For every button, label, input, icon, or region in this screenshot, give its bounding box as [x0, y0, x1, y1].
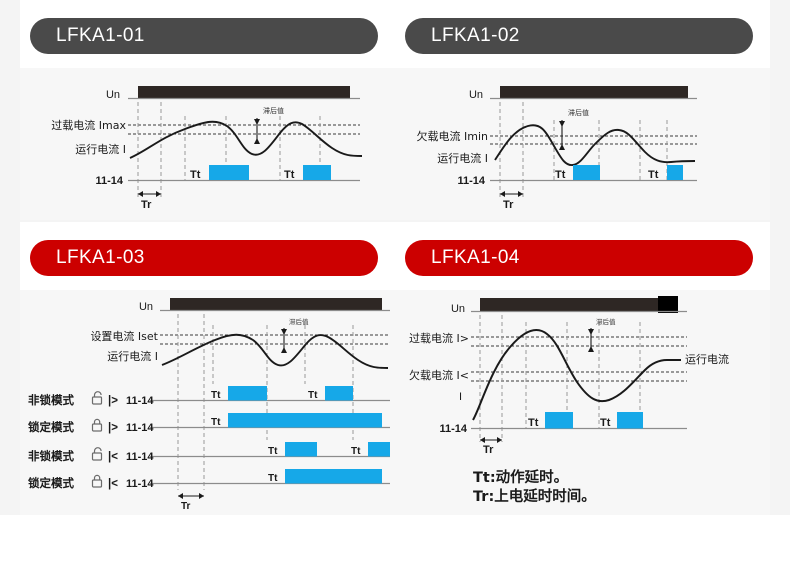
tt-label-row2-1: Tt [211, 417, 221, 428]
panel-title-pill[interactable]: LFKA1-04 [405, 240, 753, 276]
lock-icon [93, 419, 102, 431]
run-current-callout: 运行电流 [685, 352, 729, 366]
timing-diagram: 滞后值 运行电流 Tt Tt Tr Un 过载电流 I> [395, 290, 770, 515]
hysteresis-arrow [559, 120, 565, 150]
note-line-1: Tt:动作延时。 [473, 468, 568, 486]
lock-icon [93, 475, 102, 487]
supply-voltage-bar [138, 86, 350, 98]
tt-label-1: Tt [190, 169, 201, 181]
running-current-curve [473, 330, 681, 420]
tt-label-row3-1: Tt [268, 446, 278, 457]
contact-pulse-2 [303, 165, 331, 180]
unlock-icon [93, 392, 102, 404]
event-marker-group [178, 314, 353, 490]
contact-pulse-row3-2 [368, 442, 390, 457]
unlock-icon [93, 448, 102, 460]
event-marker-group [138, 102, 320, 199]
hysteresis-label: 滞后值 [568, 108, 589, 117]
row-compare-label-4: |< [108, 478, 118, 490]
tr-label: Tr [483, 444, 494, 456]
panel-title-pill[interactable]: LFKA1-01 [30, 18, 378, 54]
row-mode-label-1: 非锁模式 [28, 393, 74, 407]
contact-label: 11-14 [95, 175, 123, 187]
contact-pulse-row2-1 [228, 413, 382, 428]
tt-label-2: Tt [648, 169, 659, 181]
tt-label-row1-1: Tt [211, 390, 221, 401]
tr-measure [500, 191, 523, 197]
hysteresis-arrow [588, 328, 594, 352]
contact-pulse-2 [667, 165, 683, 180]
row-contact-label-3: 11-14 [126, 451, 154, 463]
tr-label: Tr [141, 199, 152, 211]
row-legend-1: 非锁模式 |> 11-14 [28, 392, 154, 407]
threshold-label: 过载电流 Imax [51, 118, 126, 132]
undercurrent-label: 欠载电流 I< [409, 368, 469, 382]
tr-measure [178, 493, 204, 499]
panel-title-label: LFKA1-03 [56, 247, 145, 269]
panel-title-label: LFKA1-02 [431, 25, 520, 47]
tt-label-row4-1: Tt [268, 473, 278, 484]
contact-label: 11-14 [457, 175, 485, 187]
hysteresis-label: 滞后值 [289, 317, 309, 326]
tt-label-1: Tt [555, 169, 566, 181]
contact-label: 11-14 [439, 423, 467, 435]
panel-lfka1-03: LFKA1-03 [20, 222, 395, 515]
row-compare-label-2: |> [108, 422, 118, 434]
supply-voltage-bar [480, 298, 678, 311]
contact-pulse-row1-2 [325, 386, 353, 401]
timing-diagram: 滞后值 Tt Tt Tt Tt Tt Tt [20, 290, 395, 515]
row-mode-label-4: 锁定模式 [28, 476, 74, 490]
tt-label-2: Tt [284, 169, 295, 181]
hysteresis-arrow [254, 118, 260, 144]
tt-label-1: Tt [528, 417, 539, 429]
un-label: Un [469, 89, 483, 101]
row-legend-4: 锁定模式 |< 11-14 [28, 475, 154, 490]
tr-measure [138, 191, 161, 197]
contact-pulse-2 [617, 412, 643, 429]
supply-voltage-end-block [658, 296, 678, 313]
row-contact-label-1: 11-14 [126, 395, 154, 407]
panel-lfka1-01: LFKA1-01 [20, 0, 395, 220]
un-label: Un [139, 301, 153, 313]
running-current-curve [130, 122, 362, 158]
row-compare-label-1: |> [108, 395, 118, 407]
panel-title-label: LFKA1-01 [56, 25, 145, 47]
row-contact-label-4: 11-14 [126, 478, 154, 490]
tr-label: Tr [181, 501, 191, 512]
row-mode-label-3: 非锁模式 [28, 449, 74, 463]
contact-pulse-1 [545, 412, 573, 429]
hysteresis-label: 滞后值 [263, 106, 284, 115]
timing-diagram: 滞后值 Tt Tt Tr Un 过载电流 Imax 运行电流 I [20, 68, 395, 220]
overcurrent-label: 过载电流 I> [409, 331, 469, 345]
threshold-label: 欠载电流 Imin [417, 129, 489, 143]
contact-pulse-1 [573, 165, 600, 180]
note-line-2: Tr:上电延时时间。 [473, 487, 596, 505]
threshold-label: 设置电流 Iset [90, 329, 158, 343]
supply-voltage-bar [170, 298, 382, 310]
supply-voltage-bar [500, 86, 688, 98]
timing-diagram: 滞后值 Tt Tt Tr Un 欠载电流 Imin 运行电流 I 11-14 [395, 68, 770, 220]
running-current-curve [162, 335, 388, 368]
panel-title-pill[interactable]: LFKA1-02 [405, 18, 753, 54]
panel-title-pill[interactable]: LFKA1-03 [30, 240, 378, 276]
row-contact-label-2: 11-14 [126, 422, 154, 434]
row-legend-2: 锁定模式 |> 11-14 [28, 419, 154, 434]
hysteresis-arrow [281, 328, 287, 353]
un-label: Un [106, 89, 120, 101]
running-current-curve [495, 125, 695, 165]
tt-label-row1-2: Tt [308, 390, 318, 401]
tt-label-2: Tt [600, 417, 611, 429]
timing-diagram-page: LFKA1-01 [0, 0, 790, 561]
row-legend-3: 非锁模式 |< 11-14 [28, 448, 154, 463]
contact-pulse-row1-1 [228, 386, 267, 401]
panel-lfka1-02: LFKA1-02 [395, 0, 770, 220]
hysteresis-label: 滞后值 [596, 317, 616, 326]
panel-lfka1-04: LFKA1-04 [395, 222, 770, 515]
i-label: I [459, 391, 462, 403]
contact-pulse-row3-1 [285, 442, 317, 457]
running-current-label: 运行电流 I [437, 151, 488, 165]
row-mode-label-2: 锁定模式 [28, 420, 74, 434]
tr-label: Tr [503, 199, 514, 211]
row-compare-label-3: |< [108, 451, 118, 463]
un-label: Un [451, 303, 465, 315]
running-current-label: 运行电流 I [75, 142, 126, 156]
tr-measure [480, 437, 502, 443]
contact-pulse-1 [209, 165, 249, 180]
contact-pulse-row4-1 [285, 469, 382, 484]
panel-title-label: LFKA1-04 [431, 247, 520, 269]
tt-label-row3-2: Tt [351, 446, 361, 457]
running-current-label: 运行电流 I [107, 349, 158, 363]
